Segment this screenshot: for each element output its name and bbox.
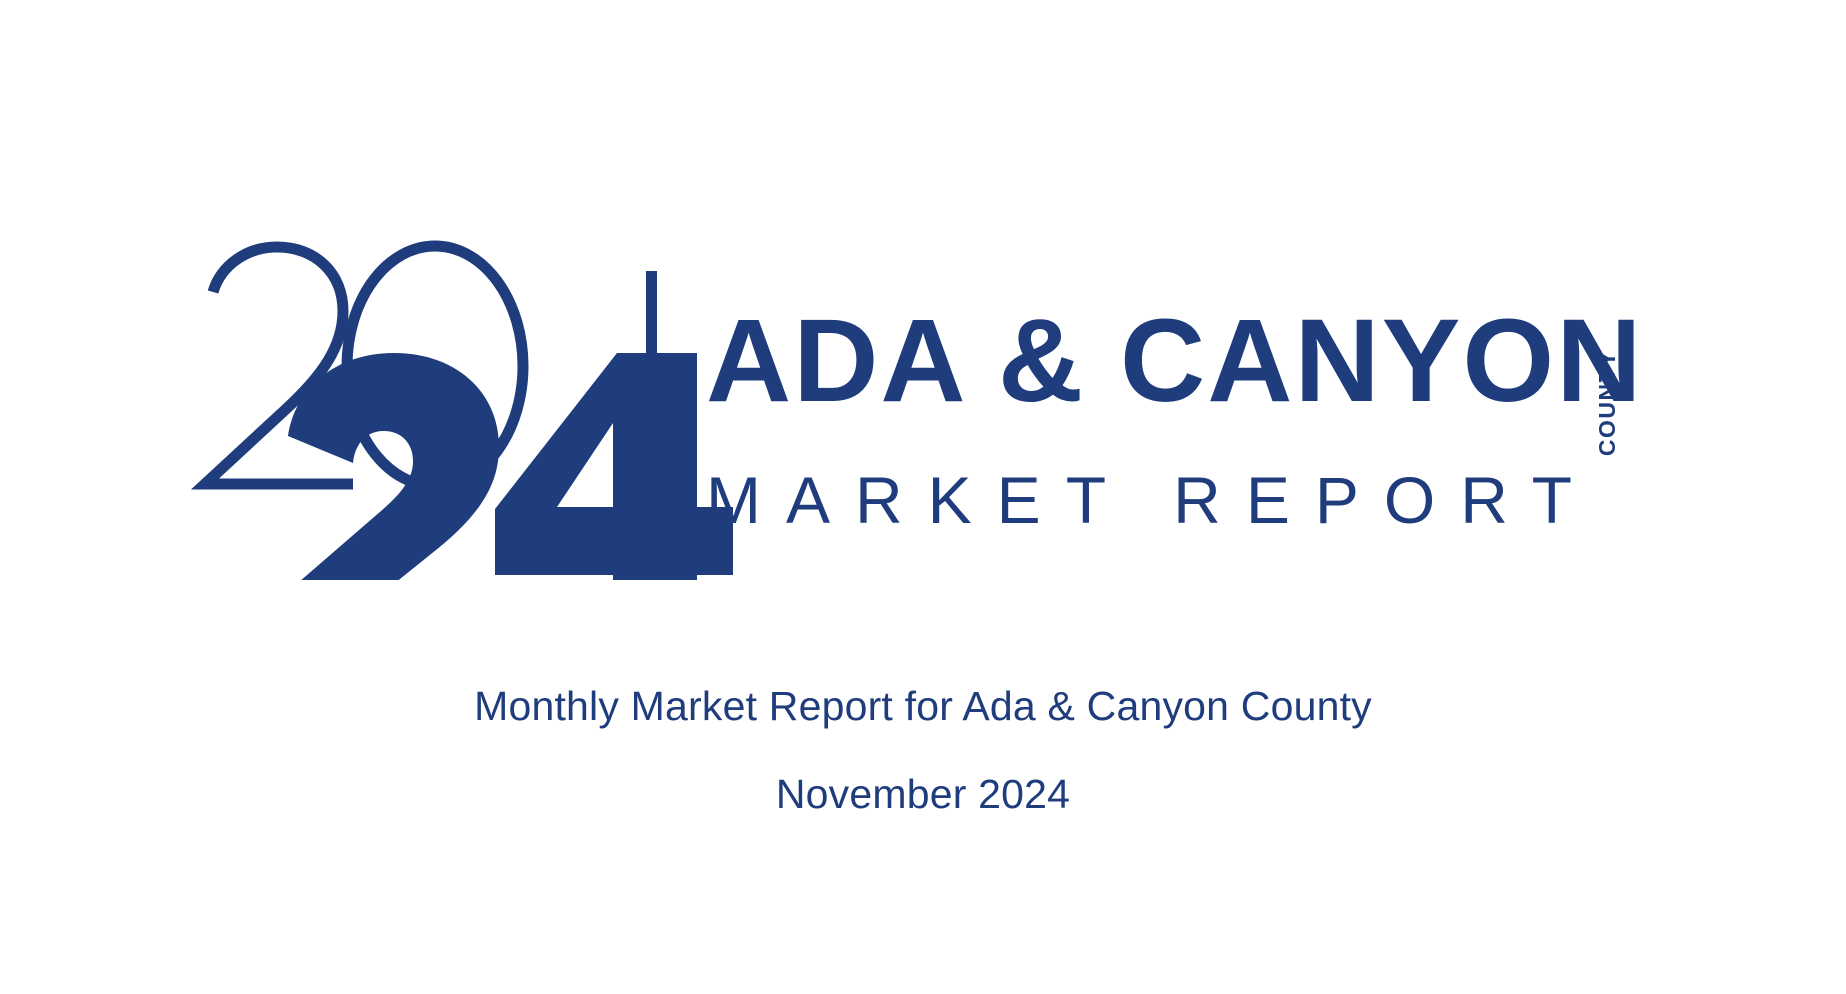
logo-year-solid-24 <box>277 353 733 580</box>
subtitle-line-primary: Monthly Market Report for Ada & Canyon C… <box>0 662 1846 750</box>
slide-canvas: ADA & CANYON COUNTY MARKET REPORT Monthl… <box>0 0 1846 994</box>
logo-divider-rule <box>646 271 657 559</box>
subtitle-line-date: November 2024 <box>0 750 1846 838</box>
subtitle-block: Monthly Market Report for Ada & Canyon C… <box>0 662 1846 838</box>
logo-headline-text: ADA & CANYON <box>706 295 1643 427</box>
logo-county-mark: COUNTY <box>1594 350 1620 456</box>
market-report-logo: ADA & CANYON COUNTY MARKET REPORT <box>185 235 1685 580</box>
logo-subhead-text: MARKET REPORT <box>706 463 1597 537</box>
